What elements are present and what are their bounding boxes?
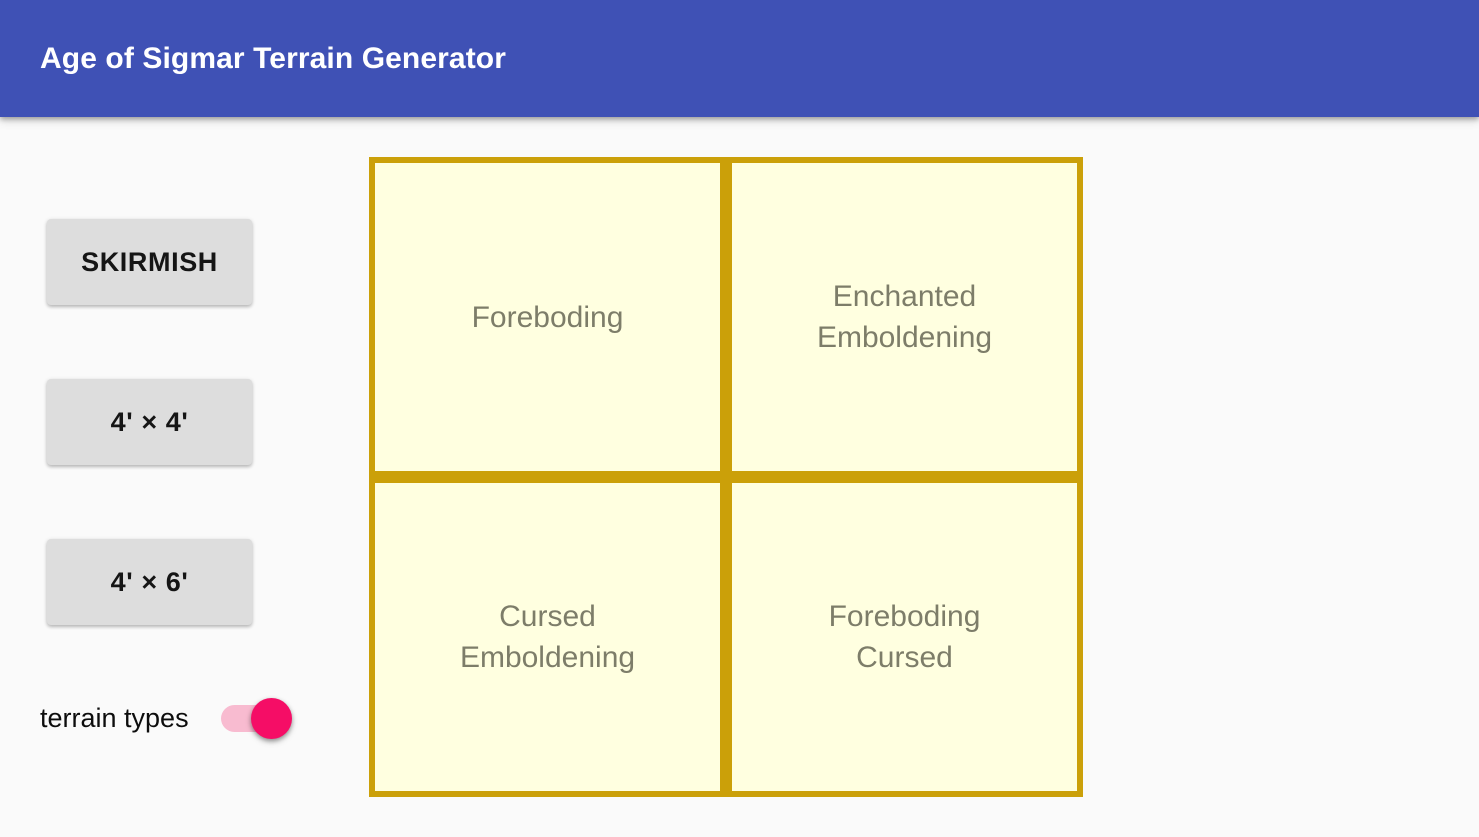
app-bar: Age of Sigmar Terrain Generator: [0, 0, 1479, 117]
terrain-grid-container: ForebodingEnchanted EmboldeningCursed Em…: [369, 157, 1083, 797]
page-title: Age of Sigmar Terrain Generator: [40, 40, 506, 78]
board-size-button-4x6-label: 4' × 6': [111, 567, 189, 598]
terrain-types-label: terrain types: [40, 695, 189, 741]
terrain-cell[interactable]: Foreboding Cursed: [726, 477, 1083, 797]
terrain-grid: ForebodingEnchanted EmboldeningCursed Em…: [369, 157, 1083, 797]
game-mode-button-label: SKIRMISH: [81, 247, 218, 278]
board-size-button-4x4[interactable]: 4' × 4': [47, 379, 252, 465]
terrain-cell[interactable]: Foreboding: [369, 157, 726, 477]
main-content: SKIRMISH 4' × 4' 4' × 6' terrain types F…: [0, 117, 1479, 837]
board-size-button-4x6[interactable]: 4' × 6': [47, 539, 252, 625]
board-size-button-4x4-label: 4' × 4': [111, 407, 189, 438]
controls-panel: SKIRMISH 4' × 4' 4' × 6' terrain types: [0, 117, 360, 837]
game-mode-button[interactable]: SKIRMISH: [47, 219, 252, 305]
toggle-thumb-icon: [251, 698, 292, 739]
terrain-cell-label: Enchanted Emboldening: [817, 276, 992, 358]
terrain-cell[interactable]: Cursed Emboldening: [369, 477, 726, 797]
terrain-cell-label: Cursed Emboldening: [460, 596, 635, 678]
terrain-cell[interactable]: Enchanted Emboldening: [726, 157, 1083, 477]
terrain-cell-label: Foreboding: [472, 297, 624, 338]
terrain-types-toggle[interactable]: [217, 695, 293, 741]
terrain-cell-label: Foreboding Cursed: [829, 596, 981, 678]
terrain-types-row: terrain types: [40, 695, 293, 741]
